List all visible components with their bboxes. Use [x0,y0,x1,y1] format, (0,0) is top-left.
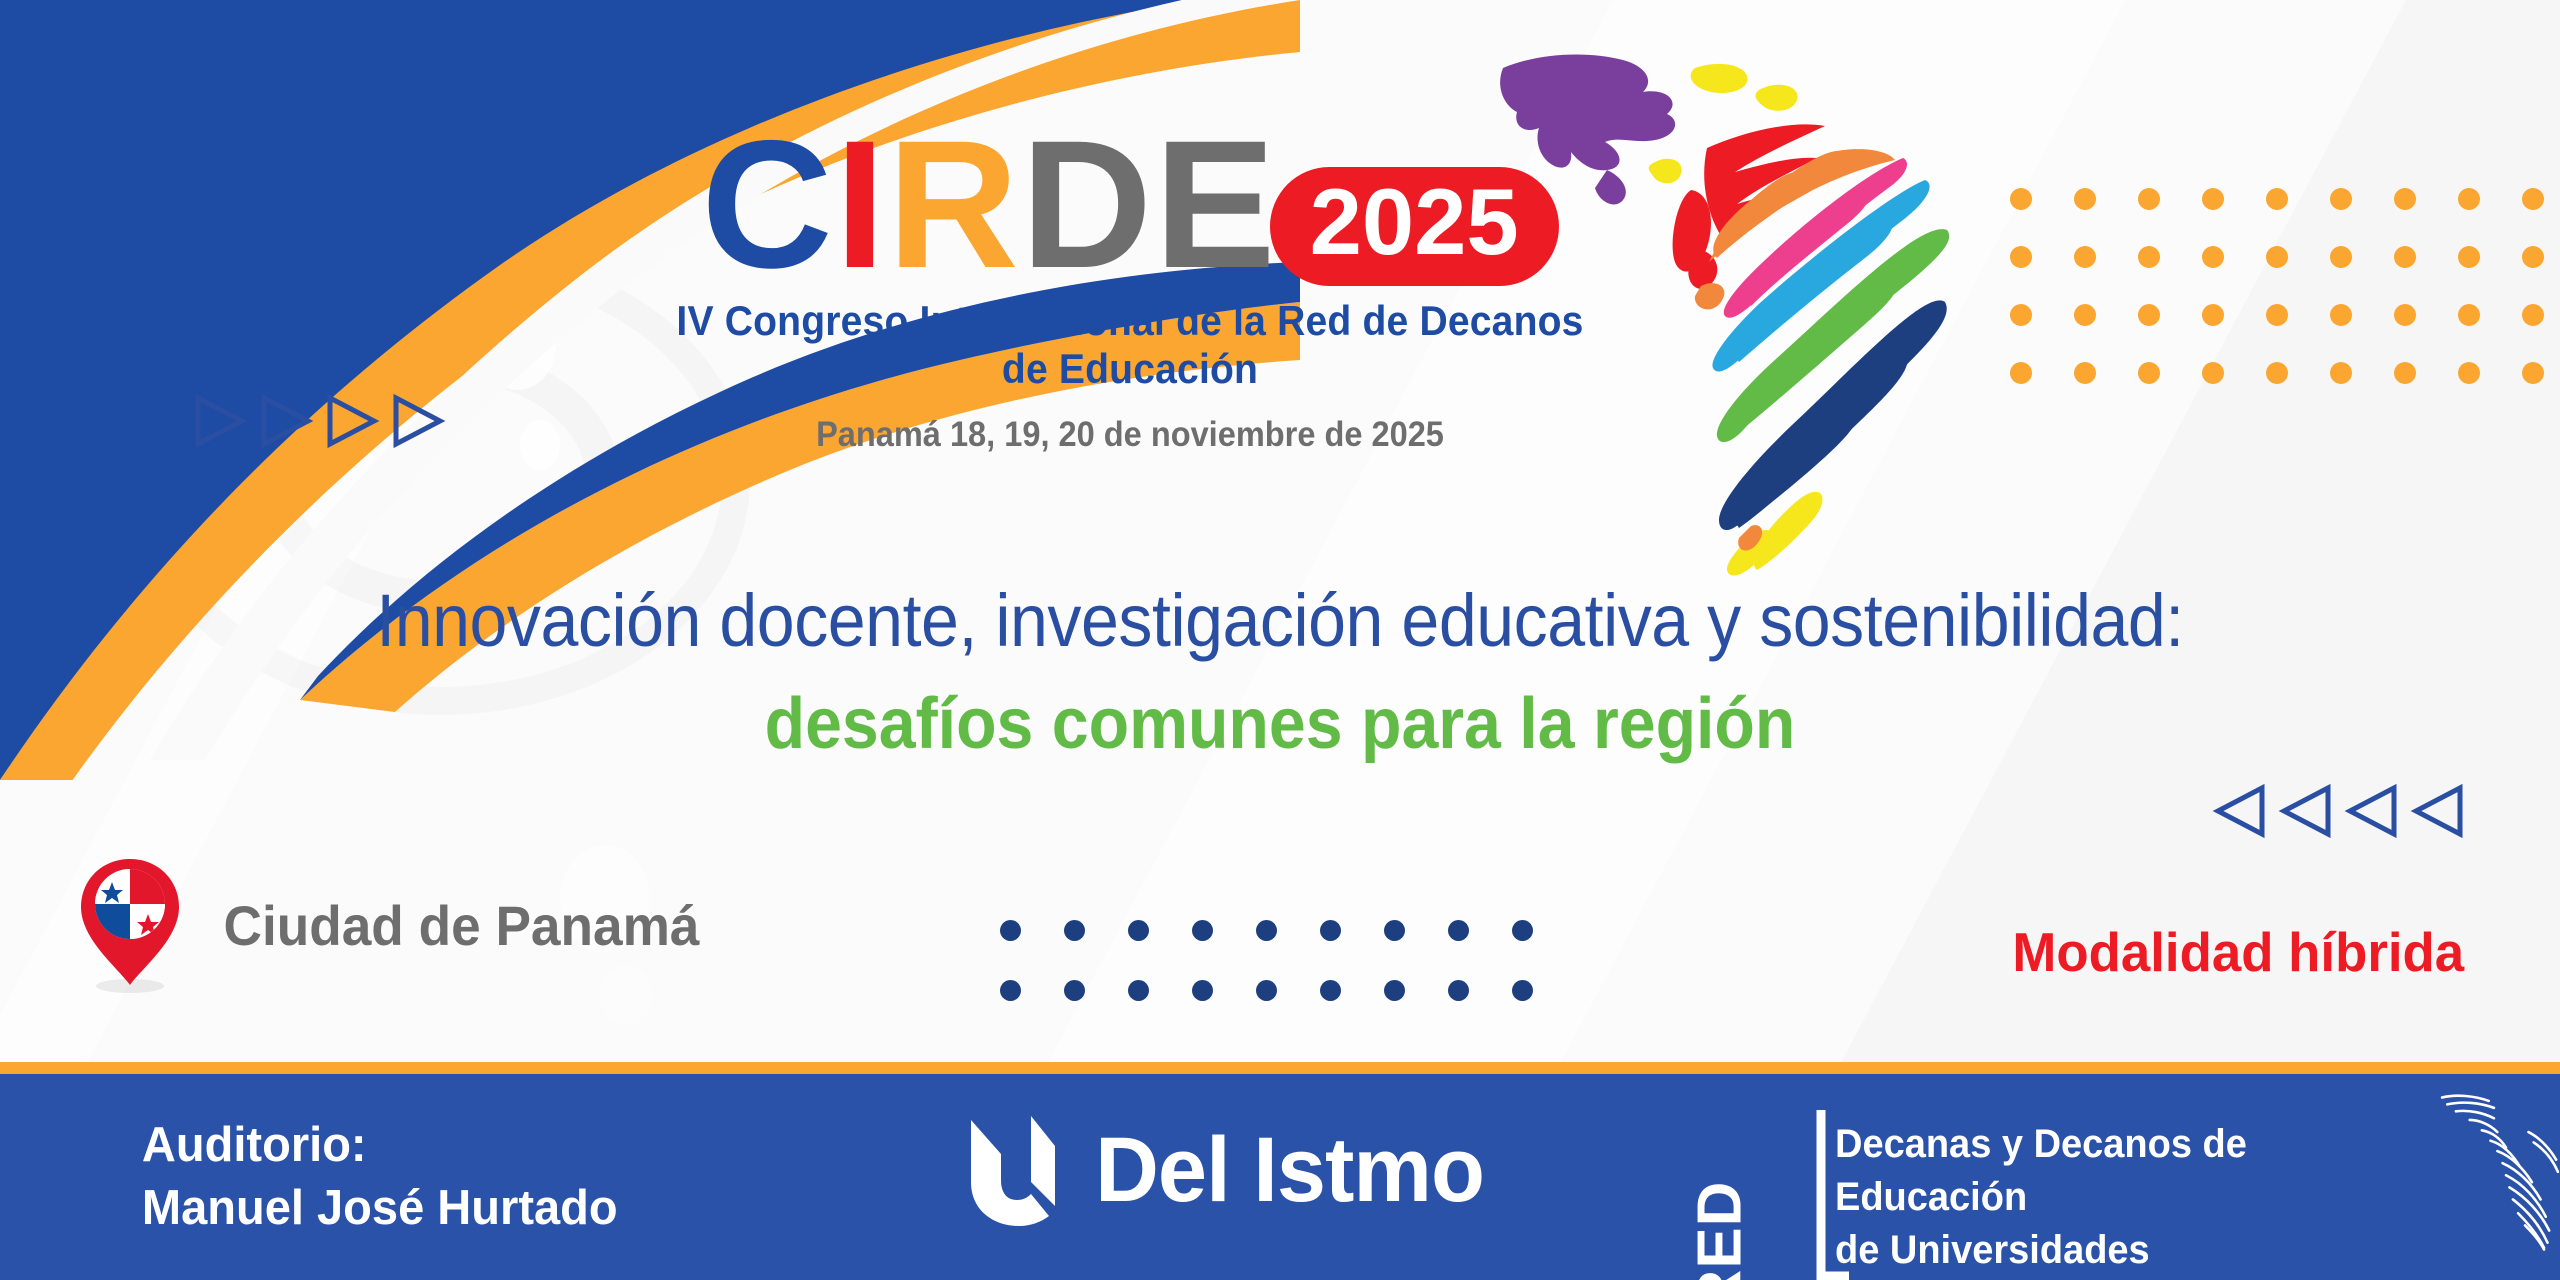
city-label: Ciudad de Panamá [224,893,700,958]
theme-line-1: Innovación docente, investigación educat… [102,578,2457,663]
cirde-logo: C I R D E 2025 IV Congreso Internacional… [620,118,1640,455]
play-triangle-right-icon [388,392,446,450]
del-istmo-u-mark-icon [965,1110,1073,1230]
conference-theme: Innovación docente, investigación educat… [0,578,2560,765]
auditorium-name: Manuel José Hurtado [142,1177,618,1240]
logo-letter-d: D [1021,118,1154,291]
play-triangle-right-icon [256,392,314,450]
red-line-1: Decanas y Decanos de Educación [1835,1118,2395,1224]
logo-letter-e: E [1154,118,1277,291]
play-triangle-left-icon [2410,782,2468,840]
location-block: Ciudad de Panamá [75,855,712,995]
footer-bar: Auditorio: Manuel José Hurtado Del Istmo… [0,1062,2560,1280]
blue-dot-grid [1000,920,1576,1040]
play-triangle-right-icon [190,392,248,450]
logo-letter-i: I [835,118,888,291]
auditorium-label: Auditorio: [142,1114,618,1177]
logo-letter-c: C [701,118,834,291]
university-name: Del Istmo [1095,1118,1484,1223]
play-triangle-left-group [2212,782,2468,840]
orange-dot-grid [2010,188,2560,420]
cirde-lettermark: C I R D E 2025 [620,118,1640,291]
map-pin-panama-flag-icon [75,855,185,995]
conference-banner: C I R D E 2025 IV Congreso Internacional… [0,0,2560,1280]
play-triangle-right-group [190,392,446,450]
red-underline-bracket-icon [1745,1104,1849,1280]
modality-label: Modalidad híbrida [2013,920,2465,984]
latin-america-brush-map-icon [1495,40,1955,580]
red-line-2: de Universidades Latinoamericanas [1835,1224,2395,1280]
red-network-logo: RED Decanas y Decanos de Educación de Un… [1745,1104,2560,1280]
latin-america-sketch-map-icon [2430,1078,2560,1263]
play-triangle-right-icon [322,392,380,450]
logo-letter-r: R [887,118,1020,291]
play-triangle-left-icon [2212,782,2270,840]
congress-date: Panamá 18, 19, 20 de noviembre de 2025 [656,415,1605,455]
red-network-description: Decanas y Decanos de Educación de Univer… [1835,1104,2395,1280]
congress-subtitle: IV Congreso Internacional de la Red de D… [656,297,1605,393]
theme-line-2: desafíos comunes para la región [102,683,2457,765]
play-triangle-left-icon [2278,782,2336,840]
del-istmo-logo: Del Istmo [965,1110,1492,1230]
auditorium-block: Auditorio: Manuel José Hurtado [142,1114,618,1239]
play-triangle-left-icon [2344,782,2402,840]
